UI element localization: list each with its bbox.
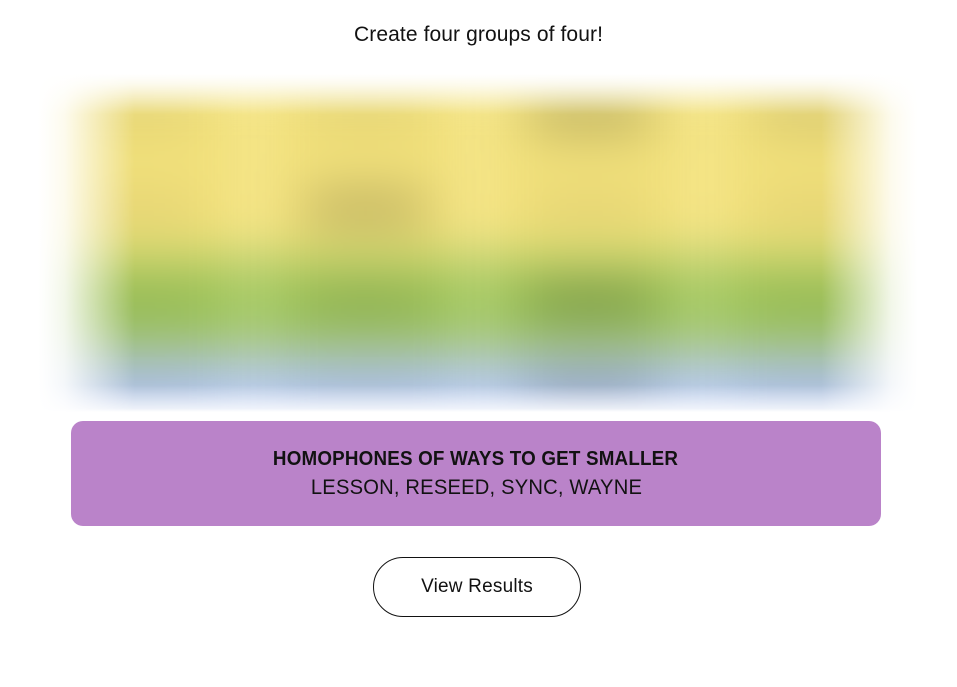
board-row: [38, 352, 918, 412]
grid-tile: [480, 258, 700, 352]
category-title: HOMOPHONES OF WAYS TO GET SMALLER: [273, 446, 678, 472]
category-words: LESSON, RESEED, SYNC, WAYNE: [310, 474, 641, 501]
grid-tile: [256, 258, 476, 352]
page-title: Create four groups of four!: [0, 21, 957, 49]
grid-tile: [704, 258, 918, 352]
grid-tile: [256, 352, 476, 412]
grid-tile: [480, 352, 700, 412]
grid-tile: [38, 258, 252, 352]
revealed-category-card: HOMOPHONES OF WAYS TO GET SMALLER LESSON…: [71, 421, 881, 526]
grid-tile: [38, 74, 252, 164]
grid-tile: [704, 352, 918, 412]
grid-tile: [480, 74, 700, 164]
view-results-button[interactable]: View Results: [373, 557, 581, 617]
puzzle-grid: [38, 74, 918, 412]
board-row: [38, 164, 918, 258]
grid-tile: [480, 164, 700, 258]
connections-result-page: Create four groups of four!: [0, 0, 957, 687]
grid-tile: [38, 164, 252, 258]
grid-tile: [704, 74, 918, 164]
grid-tile: [256, 74, 476, 164]
board-row: [38, 74, 918, 164]
board-row: [38, 258, 918, 352]
grid-tile: [256, 164, 476, 258]
blurred-puzzle-board: [38, 74, 918, 412]
grid-tile: [38, 352, 252, 412]
grid-tile: [704, 164, 918, 258]
